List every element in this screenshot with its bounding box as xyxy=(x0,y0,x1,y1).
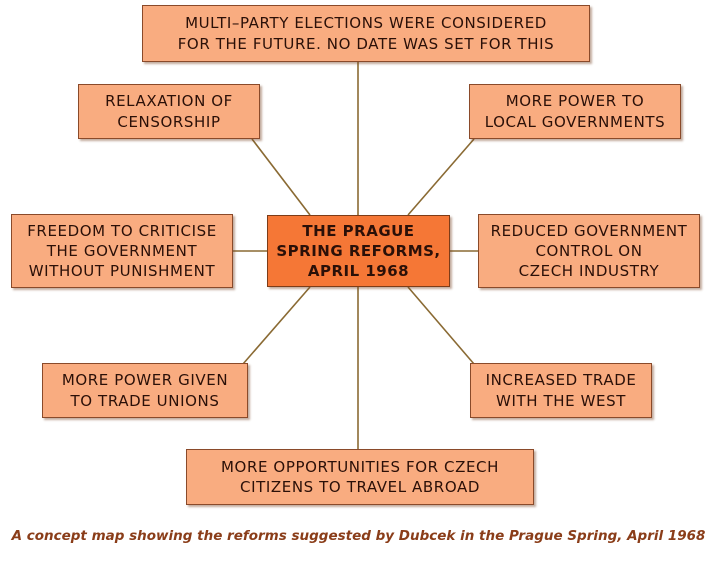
concept-node-bottom-right[interactable]: INCREASED TRADE WITH THE WEST xyxy=(470,363,652,418)
concept-node-left[interactable]: FREEDOM TO CRITICISE THE GOVERNMENT WITH… xyxy=(11,214,233,288)
concept-node-top-right[interactable]: MORE POWER TO LOCAL GOVERNMENTS xyxy=(469,84,681,139)
concept-node-bottom-left[interactable]: MORE POWER GIVEN TO TRADE UNIONS xyxy=(42,363,248,418)
concept-node-bottom-left-label: MORE POWER GIVEN TO TRADE UNIONS xyxy=(56,370,234,411)
concept-node-top-right-label: MORE POWER TO LOCAL GOVERNMENTS xyxy=(479,91,672,132)
concept-node-top-left[interactable]: RELAXATION OF CENSORSHIP xyxy=(78,84,260,139)
concept-node-bottom[interactable]: MORE OPPORTUNITIES FOR CZECH CITIZENS TO… xyxy=(186,449,534,505)
connector-top-right xyxy=(408,139,474,215)
concept-node-left-label: FREEDOM TO CRITICISE THE GOVERNMENT WITH… xyxy=(21,221,223,282)
concept-node-center[interactable]: THE PRAGUE SPRING REFORMS, APRIL 1968 xyxy=(267,215,450,287)
concept-map-canvas: MULTI–PARTY ELECTIONS WERE CONSIDERED FO… xyxy=(0,0,717,574)
diagram-caption: A concept map showing the reforms sugges… xyxy=(0,528,717,544)
concept-node-right-label: REDUCED GOVERNMENT CONTROL ON CZECH INDU… xyxy=(485,221,694,282)
concept-node-top[interactable]: MULTI–PARTY ELECTIONS WERE CONSIDERED FO… xyxy=(142,5,590,62)
concept-node-center-label: THE PRAGUE SPRING REFORMS, APRIL 1968 xyxy=(270,221,446,282)
concept-node-top-label: MULTI–PARTY ELECTIONS WERE CONSIDERED FO… xyxy=(172,13,561,54)
connector-bottom-right xyxy=(408,287,474,364)
connector-bottom-left xyxy=(243,287,310,364)
concept-node-right[interactable]: REDUCED GOVERNMENT CONTROL ON CZECH INDU… xyxy=(478,214,700,288)
concept-node-bottom-right-label: INCREASED TRADE WITH THE WEST xyxy=(480,370,643,411)
connector-top-left xyxy=(252,139,310,215)
concept-node-bottom-label: MORE OPPORTUNITIES FOR CZECH CITIZENS TO… xyxy=(215,457,505,498)
concept-node-top-left-label: RELAXATION OF CENSORSHIP xyxy=(99,91,239,132)
